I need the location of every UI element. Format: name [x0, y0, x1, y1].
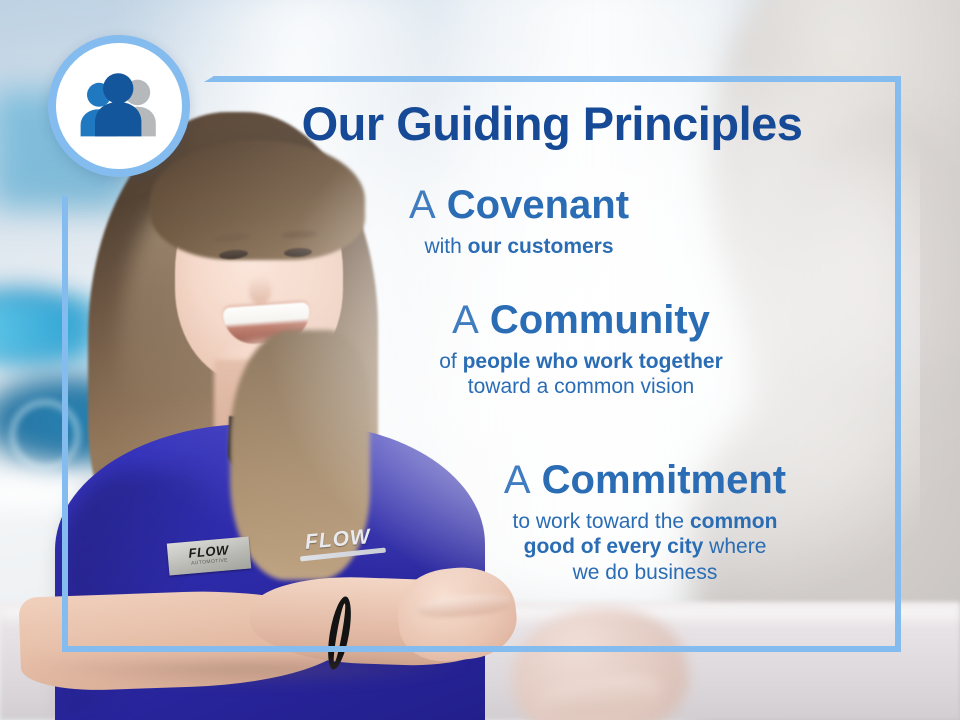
subtext-line: toward a common vision — [228, 374, 934, 400]
principle-commitment: A Commitment to work toward the commongo… — [292, 460, 960, 585]
principle-subtext: with our customers — [166, 234, 872, 260]
principle-community: A Community of people who work togethert… — [228, 300, 934, 400]
subtext-run: toward a common vision — [468, 375, 694, 398]
subtext-emphasis: our customers — [468, 235, 614, 258]
subtext-emphasis: good of every city — [524, 535, 704, 558]
principle-keyword: Community — [490, 298, 710, 342]
subtext-run: we do business — [573, 561, 718, 584]
principle-headline: A Commitment — [292, 460, 960, 502]
subtext-line: with our customers — [166, 234, 872, 260]
principle-subtext: of people who work togethertoward a comm… — [228, 349, 934, 400]
principle-article: A — [409, 183, 436, 227]
guiding-principles-banner: FLOW AUTOMOTIVE FLOW — [0, 0, 960, 720]
subtext-line: to work toward the common — [292, 509, 960, 535]
principle-headline: A Community — [228, 300, 934, 342]
people-group-icon — [71, 58, 167, 154]
subtext-run: of — [439, 350, 462, 373]
copy-block: Our Guiding Principles A Covenant with o… — [200, 0, 906, 720]
people-badge — [48, 35, 190, 177]
page-title: Our Guiding Principles — [222, 96, 882, 151]
principle-article: A — [452, 298, 479, 342]
subtext-line: we do business — [292, 560, 960, 586]
principle-keyword: Commitment — [542, 458, 786, 502]
subtext-run: with — [424, 235, 467, 258]
subtext-run: where — [703, 535, 766, 558]
principle-article: A — [504, 458, 531, 502]
subtext-line: good of every city where — [292, 534, 960, 560]
subtext-run: to work toward the — [513, 510, 690, 533]
subtext-line: of people who work together — [228, 349, 934, 375]
principle-subtext: to work toward the commongood of every c… — [292, 509, 960, 586]
principle-keyword: Covenant — [447, 183, 629, 227]
subtext-emphasis: common — [690, 510, 778, 533]
frame-border-left — [62, 196, 68, 652]
principle-headline: A Covenant — [166, 185, 872, 227]
principle-covenant: A Covenant with our customers — [166, 185, 872, 259]
blurred-wall-logo — [10, 400, 80, 470]
subtext-emphasis: people who work together — [463, 350, 723, 373]
